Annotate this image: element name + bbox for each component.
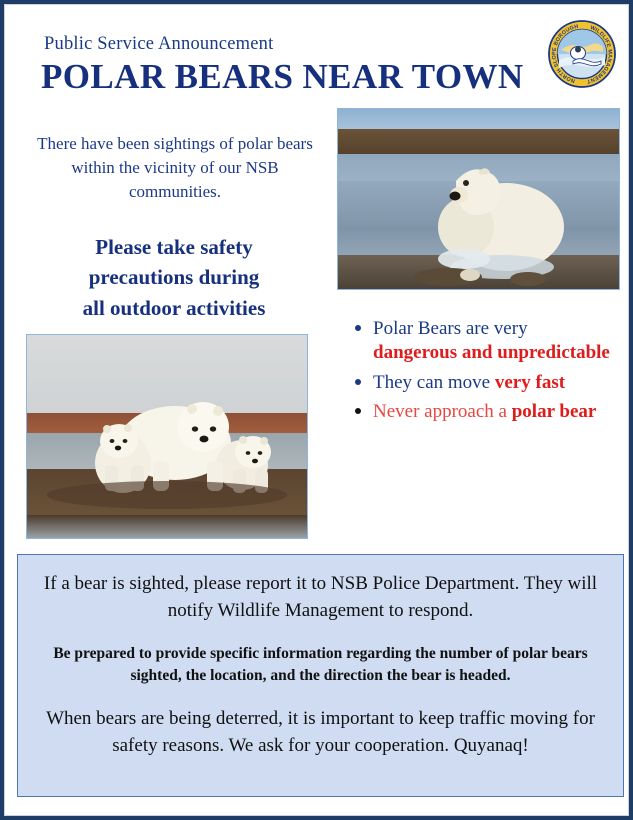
- bullet-dot-icon: [355, 325, 361, 331]
- safety-callout: Please take safety precautions during al…: [32, 232, 316, 323]
- bullet-3-emphasis: polar bear: [512, 401, 597, 422]
- photo-bear-shape: [338, 109, 619, 289]
- callout-line-3: all outdoor activities: [32, 293, 316, 323]
- kicker-label: Public Service Announcement: [44, 34, 273, 55]
- photo-bear-family-shapes: [27, 335, 307, 538]
- intro-paragraph: There have been sightings of polar bears…: [34, 132, 316, 204]
- bullet-1-emphasis: dangerous and unpredictable: [373, 342, 610, 363]
- panel-paragraph-2: Be prepared to provide specific informat…: [38, 643, 603, 688]
- page-title: POLAR BEARS NEAR TOWN: [41, 57, 524, 97]
- callout-line-1: Please take safety: [32, 232, 316, 262]
- north-slope-borough-seal-icon: NORTH SLOPE BOROUGH WILDLIFE MANAGEMENT: [548, 20, 616, 88]
- list-item: Polar Bears are very dangerous and unpre…: [354, 317, 616, 366]
- photo-bear-family: [26, 334, 308, 539]
- panel-paragraph-1: If a bear is sighted, please report it t…: [34, 571, 607, 625]
- bullet-dot-icon: [355, 408, 361, 414]
- psa-poster: Public Service Announcement POLAR BEARS …: [0, 0, 633, 820]
- bullet-1-text: Polar Bears are very: [373, 318, 528, 339]
- list-item: Never approach a polar bear: [354, 400, 616, 424]
- safety-bullet-list: Polar Bears are very dangerous and unpre…: [354, 317, 616, 429]
- bullet-2-text: They can move: [373, 372, 490, 393]
- callout-line-2: precautions during: [32, 262, 316, 292]
- bullet-dot-icon: [355, 379, 361, 385]
- bullet-2-emphasis: very fast: [495, 372, 565, 393]
- list-item: They can move very fast: [354, 371, 616, 395]
- bullet-3-text: Never approach a: [373, 401, 507, 422]
- reporting-instructions-panel: If a bear is sighted, please report it t…: [17, 554, 624, 797]
- panel-paragraph-3: When bears are being deterred, it is imp…: [34, 706, 607, 760]
- photo-bear-in-water: [337, 108, 620, 290]
